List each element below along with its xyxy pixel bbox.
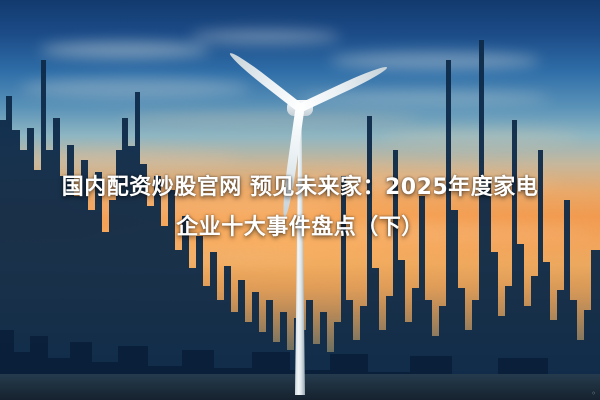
- corner-watermark: ◦: [591, 389, 596, 398]
- headline-line-2: 企业十大事件盘点（下）: [0, 208, 600, 248]
- screenshot-canvas: 国内配资炒股官网 预见未来家：2025年度家电 企业十大事件盘点（下） ◦: [0, 0, 600, 400]
- headline-line-1: 国内配资炒股官网 预见未来家：2025年度家电: [0, 168, 600, 208]
- headline-overlay: 国内配资炒股官网 预见未来家：2025年度家电 企业十大事件盘点（下）: [0, 168, 600, 248]
